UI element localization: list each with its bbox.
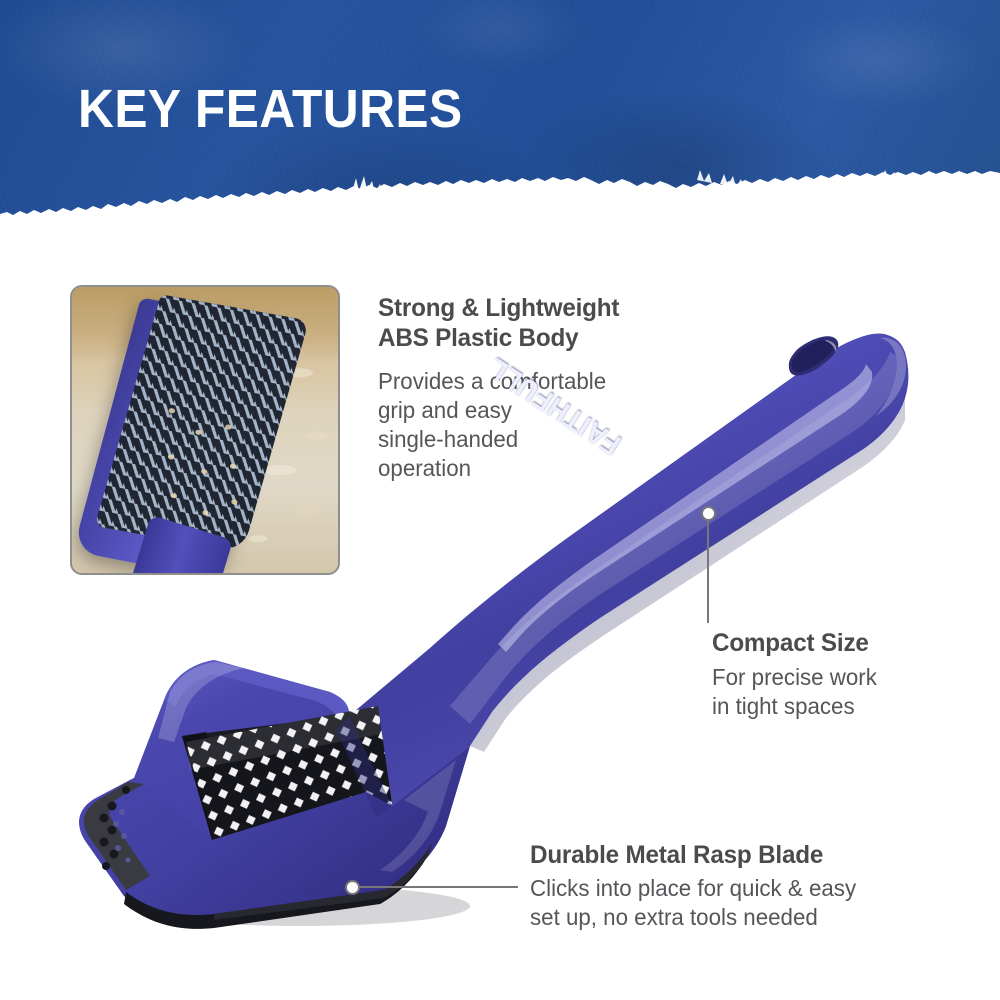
feature-title-metal-rasp-blade: Durable Metal Rasp Blade [530,840,823,870]
callout-dot-compact-size [701,506,716,521]
page-title: KEY FEATURES [78,82,463,136]
infographic-canvas: KEY FEATURES [0,0,1000,1000]
feature-title-abs-plastic-body-line2: ABS Plastic Body [378,323,578,353]
header-banner: KEY FEATURES [0,0,1000,240]
product-head-shell [79,660,470,917]
torn-edge-divider [0,170,1000,240]
product-blade-cavity [182,716,366,840]
feature-body-metal-rasp-blade-line2: set up, no extra tools needed [530,903,818,932]
hanging-hole [789,336,839,375]
feature-body-compact-size-line2: in tight spaces [712,692,855,721]
feature-body-compact-size-line1: For precise work [712,663,877,692]
product-rasp-blade [170,690,420,870]
callout-line-compact-size [707,520,709,623]
feature-body-metal-rasp-blade-line1: Clicks into place for quick & easy [530,874,856,903]
callout-dot-metal-rasp-blade [345,880,360,895]
feature-title-compact-size: Compact Size [712,628,869,658]
rasp-blade-closeup-photo [70,285,340,575]
callout-line-metal-rasp-blade [360,886,518,888]
feature-title-abs-plastic-body-line1: Strong & Lightweight [378,293,619,323]
feature-body-abs-plastic-body-line2: grip and easy [378,396,512,425]
feature-body-abs-plastic-body-line4: operation [378,454,471,483]
product-blade-edge-teeth [84,782,150,890]
feature-body-abs-plastic-body-line3: single-handed [378,425,518,454]
product-front-lip [79,746,470,917]
